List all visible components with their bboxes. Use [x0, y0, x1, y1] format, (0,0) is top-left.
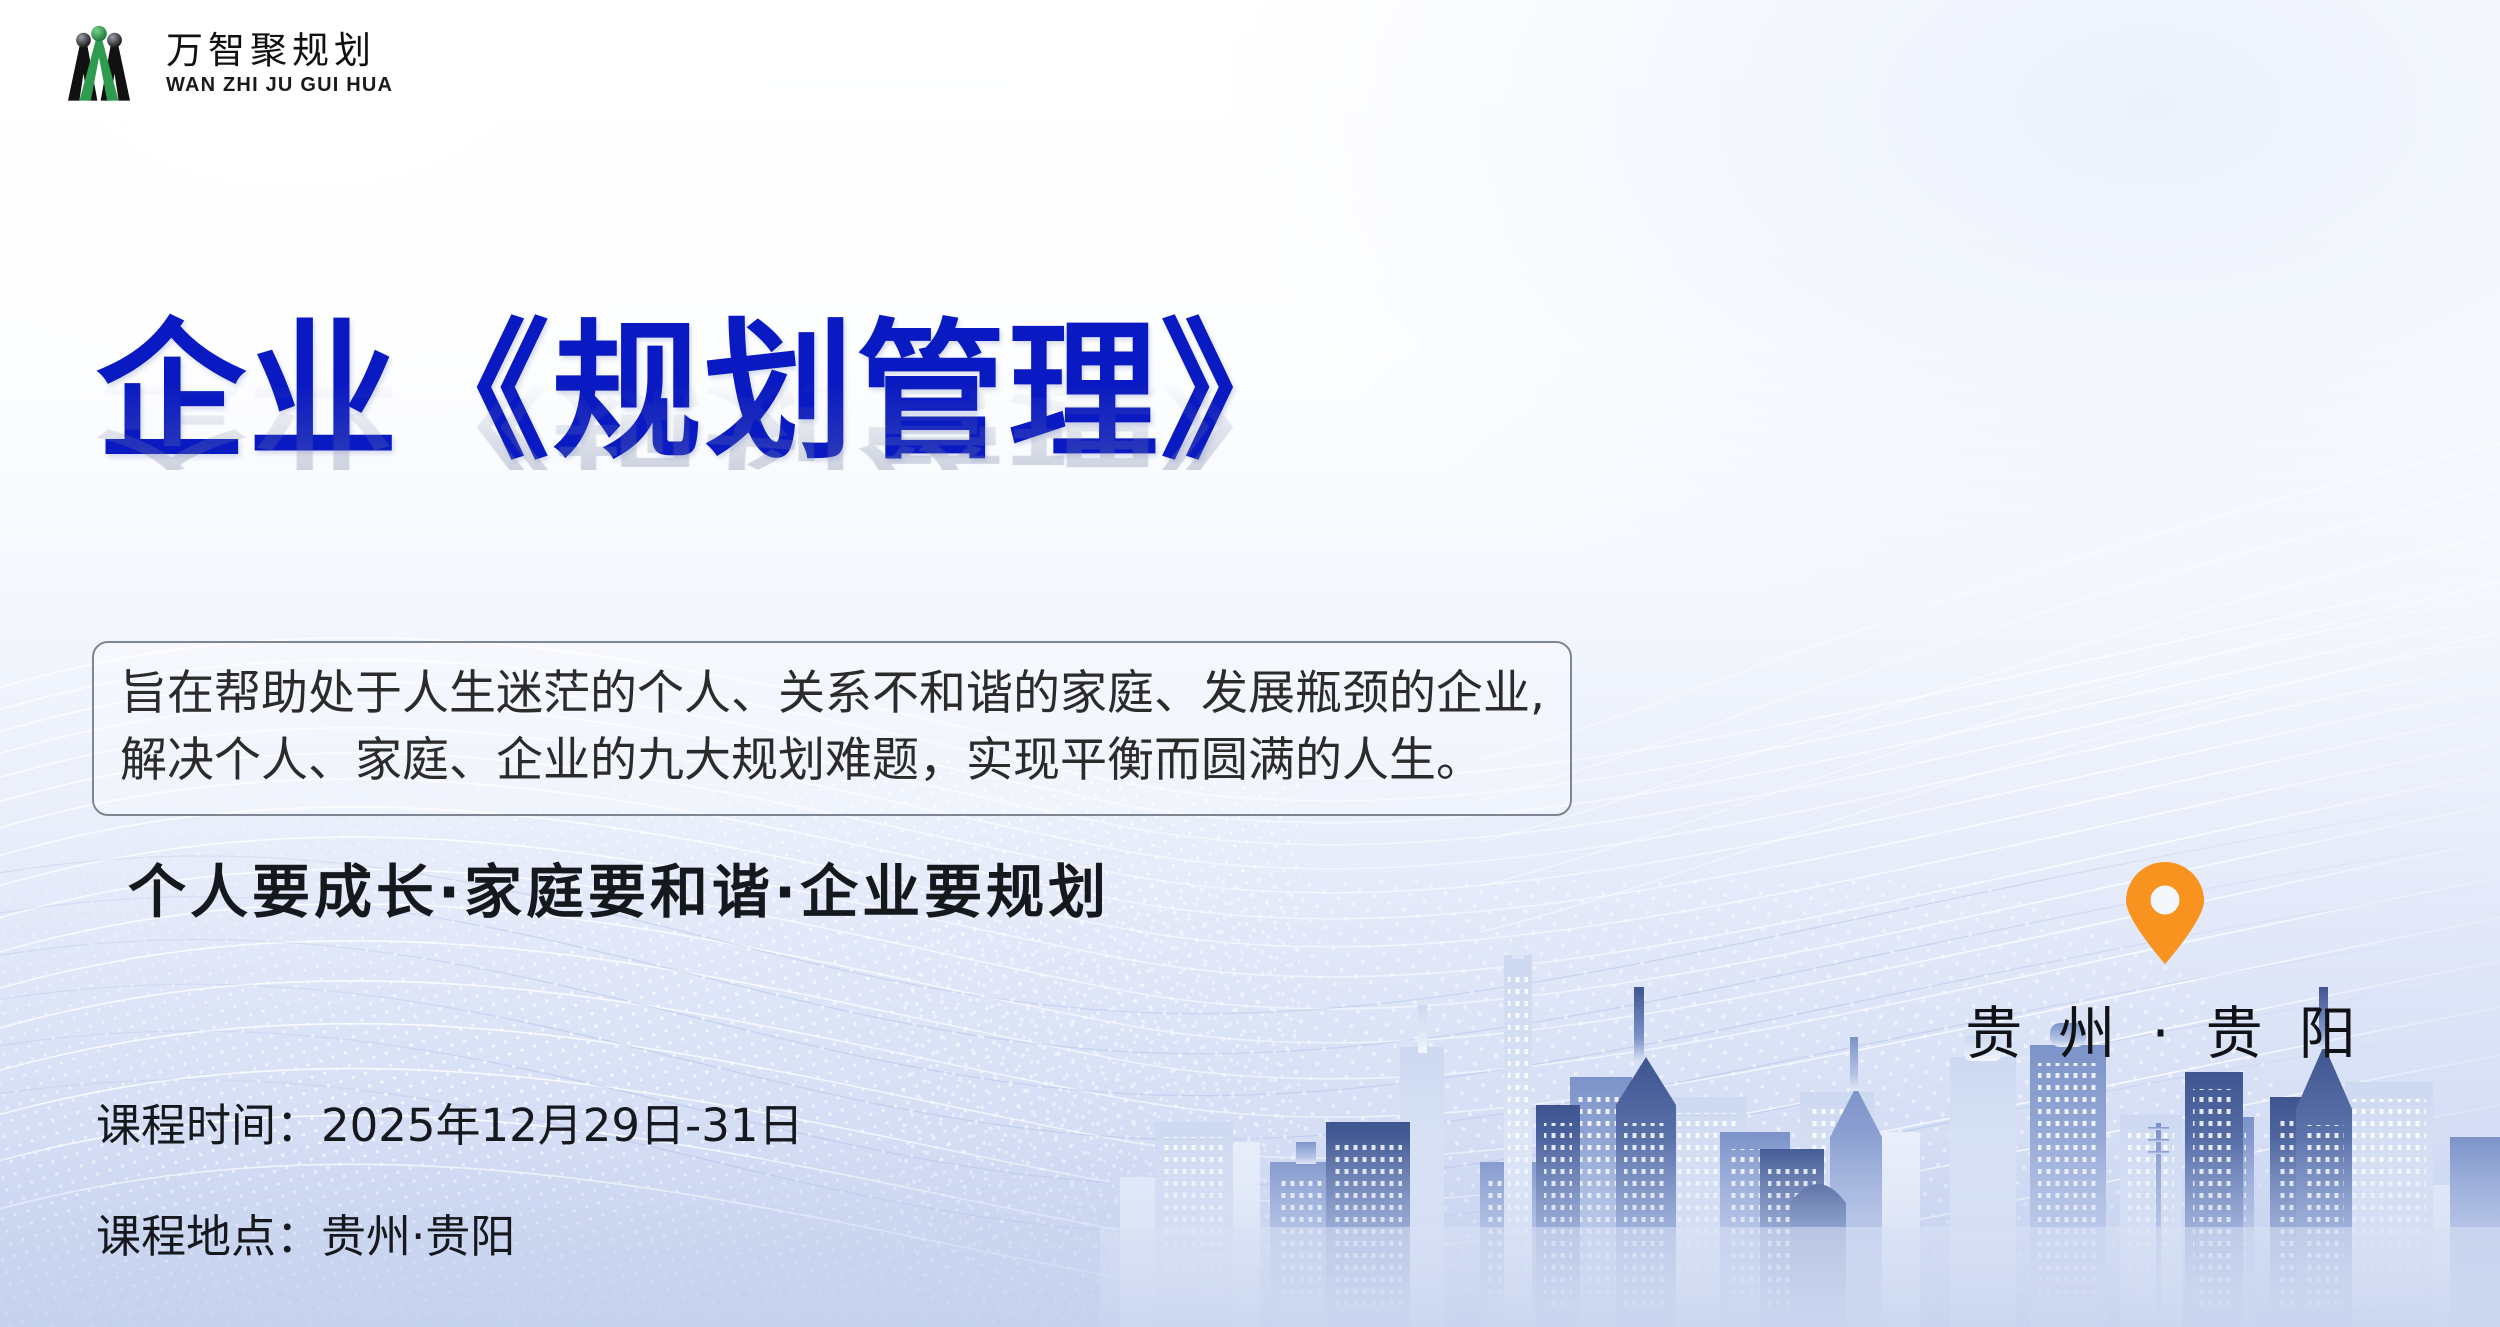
course-meta: 课程时间：2025年12月29日-31日 课程地点：贵州·贵阳: [96, 1089, 804, 1265]
brand-name-pinyin: WAN ZHI JU GUI HUA: [166, 75, 393, 95]
poster-canvas: 万智聚规划 WAN ZHI JU GUI HUA 企业《规划管理》 企业《规划管…: [0, 0, 2500, 1327]
description-line-1: 旨在帮助处于人生迷茫的个人、关系不和谐的家庭、发展瓶颈的企业,: [120, 661, 1544, 728]
course-date-row: 课程时间：2025年12月29日-31日: [96, 1089, 804, 1154]
brand-logo[interactable]: 万智聚规划 WAN ZHI JU GUI HUA: [50, 22, 393, 104]
hero-title-block: 企业《规划管理》 企业《规划管理》: [96, 318, 1636, 620]
three-people-m-logo-icon: [50, 22, 148, 104]
page-title: 企业《规划管理》: [96, 318, 1636, 468]
location-badge: 贵 州 · 贵 阳: [1955, 862, 2375, 1070]
map-pin-icon: [2122, 862, 2208, 966]
brand-name-block: 万智聚规划 WAN ZHI JU GUI HUA: [166, 32, 393, 95]
brand-name-cn: 万智聚规划: [166, 32, 393, 69]
slogan-text: 个人要成长·家庭要和谐·企业要规划: [128, 845, 1110, 929]
course-place-row: 课程地点：贵州·贵阳: [96, 1200, 804, 1265]
description-line-2: 解决个人、家庭、企业的九大规划难题，实现平衡而圆满的人生。: [120, 728, 1544, 795]
location-label: 贵 州 · 贵 阳: [1965, 988, 2365, 1070]
description-box: 旨在帮助处于人生迷茫的个人、关系不和谐的家庭、发展瓶颈的企业, 解决个人、家庭、…: [92, 641, 1572, 816]
